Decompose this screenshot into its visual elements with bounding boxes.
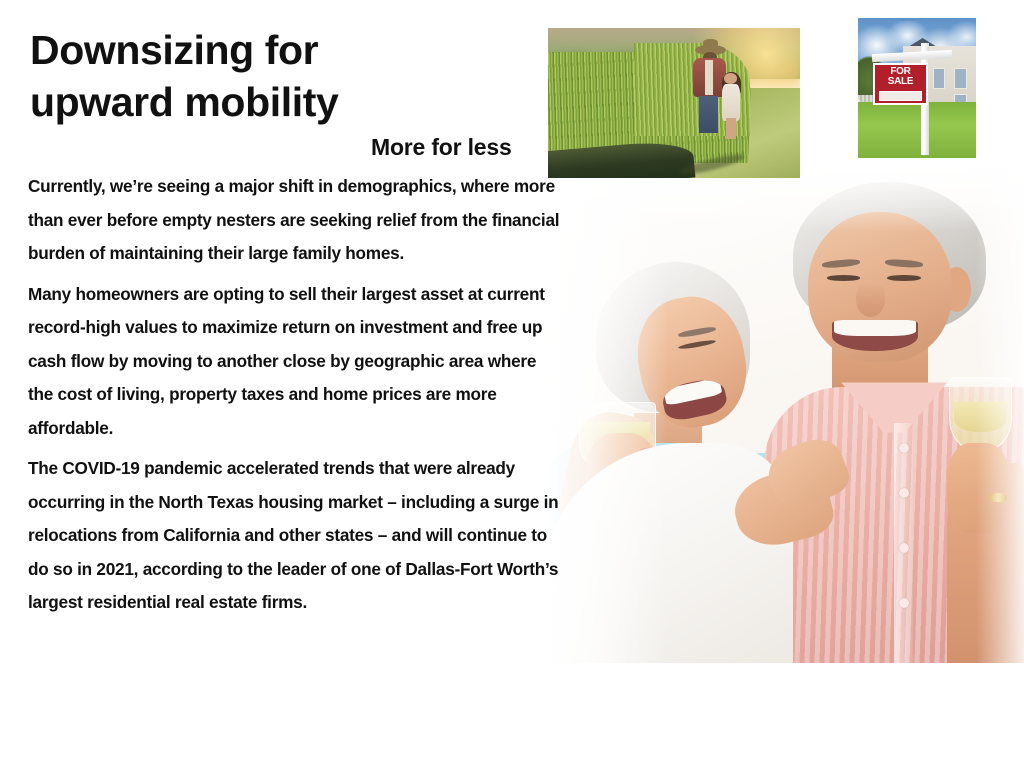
- man-shirt-button: [899, 543, 909, 553]
- for-sale-sign-board: FOR SALE: [873, 63, 927, 105]
- subtitle: More for less: [371, 134, 512, 161]
- field-girl-dress: [722, 84, 740, 122]
- field-man-shirt: [693, 58, 726, 97]
- man-nose: [856, 282, 885, 317]
- man-shirt-button: [899, 598, 909, 608]
- field-photo: [548, 28, 800, 178]
- page-title: Downsizing for upward mobility: [30, 24, 510, 129]
- for-sale-sign-blank-plate: [879, 91, 921, 101]
- slide-canvas: Downsizing for upward mobility More for …: [0, 0, 1024, 768]
- for-sale-photo: FOR SALE: [858, 18, 976, 158]
- man-teeth: [834, 320, 915, 336]
- for-sale-house-window: [933, 68, 946, 88]
- senior-couple-photo: [543, 162, 1024, 663]
- paragraph-2: Many homeowners are opting to sell their…: [28, 278, 564, 446]
- for-sale-lawn: [858, 102, 976, 158]
- body-copy: Currently, we’re seeing a major shift in…: [28, 170, 564, 627]
- couple-photo-right-fade: [976, 162, 1024, 663]
- for-sale-sign-line-2: SALE: [888, 77, 913, 88]
- paragraph-3: The COVID-19 pandemic accelerated trends…: [28, 452, 564, 620]
- paragraph-1: Currently, we’re seeing a major shift in…: [28, 170, 564, 271]
- man-shirt-button: [899, 488, 909, 498]
- field-man-jeans: [699, 96, 718, 134]
- for-sale-house-window: [954, 68, 967, 88]
- man-shirt-button: [899, 443, 909, 453]
- field-girl-legs: [726, 118, 736, 139]
- man-mouth: [832, 320, 919, 351]
- field-girl-head: [724, 73, 737, 84]
- man-eye-right: [887, 275, 921, 281]
- man-eye-left: [827, 275, 861, 281]
